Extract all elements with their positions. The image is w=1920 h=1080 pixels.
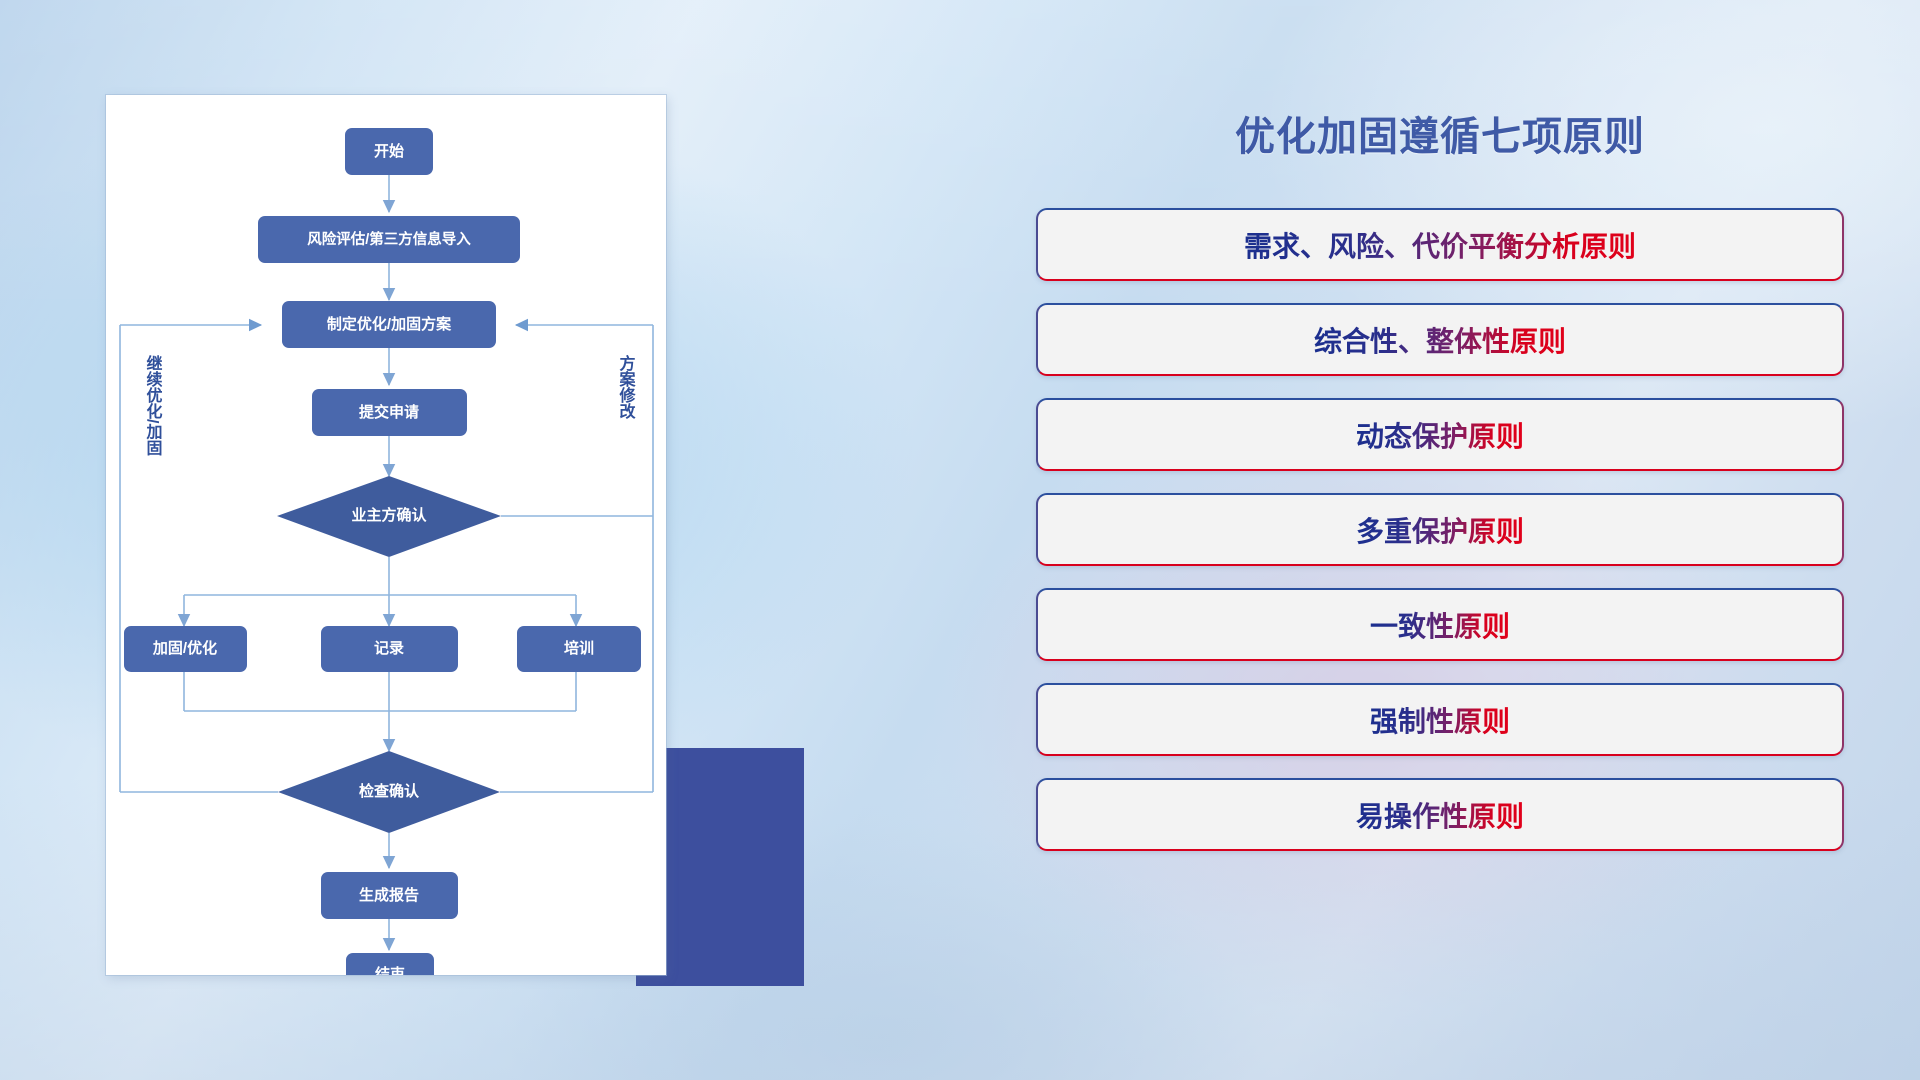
principle-card-label: 动态保护原则	[1356, 415, 1524, 455]
flow-node-report[interactable]: 生成报告	[321, 872, 458, 919]
flow-node-end[interactable]: 结束	[346, 953, 434, 975]
flow-node-plan[interactable]: 制定优化/加固方案	[282, 301, 496, 348]
principle-card-label: 多重保护原则	[1356, 510, 1524, 550]
principle-card[interactable]: 动态保护原则	[1036, 398, 1844, 471]
principle-card-list: 需求、风险、代价平衡分析原则 综合性、整体性原则 动态保护原则 多重保护原则 一…	[1020, 208, 1850, 851]
flow-node-start[interactable]: 开始	[345, 128, 433, 175]
principle-card-label: 一致性原则	[1370, 605, 1510, 645]
principle-card-label: 综合性、整体性原则	[1314, 320, 1566, 360]
principles-panel: 优化加固遵循七项原则 需求、风险、代价平衡分析原则 综合性、整体性原则 动态保护…	[1020, 80, 1850, 1030]
flow-node-submit[interactable]: 提交申请	[312, 389, 467, 436]
principle-card[interactable]: 易操作性原则	[1036, 778, 1844, 851]
flow-node-report-label: 生成报告	[359, 886, 419, 904]
flowchart-diagram: 开始 风险评估/第三方信息导入 制定优化/加固方案 提交申请 业主方确认 加固/…	[106, 95, 666, 975]
flow-left-loop-label: 继续优化/加固	[144, 354, 164, 456]
panel-title: 优化加固遵循七项原则	[1030, 104, 1850, 162]
principle-card-label: 需求、风险、代价平衡分析原则	[1244, 225, 1636, 265]
flow-node-start-label: 开始	[374, 142, 404, 160]
flow-node-check-confirm[interactable]: 检查确认	[278, 751, 500, 833]
principle-card[interactable]: 多重保护原则	[1036, 493, 1844, 566]
flow-connectors	[120, 175, 653, 950]
flow-node-record[interactable]: 记录	[321, 626, 458, 672]
flow-node-training[interactable]: 培训	[517, 626, 641, 672]
flow-node-submit-label: 提交申请	[359, 403, 419, 421]
principle-card[interactable]: 综合性、整体性原则	[1036, 303, 1844, 376]
flow-node-plan-label: 制定优化/加固方案	[327, 315, 452, 333]
flow-node-training-label: 培训	[564, 639, 594, 657]
flow-node-reinforce-label: 加固/优化	[152, 639, 217, 657]
flow-node-owner-confirm[interactable]: 业主方确认	[277, 476, 501, 557]
flow-node-owner-confirm-label: 业主方确认	[351, 506, 427, 524]
principle-card-label: 强制性原则	[1370, 700, 1510, 740]
principle-card[interactable]: 需求、风险、代价平衡分析原则	[1036, 208, 1844, 281]
flow-node-risk-assessment[interactable]: 风险评估/第三方信息导入	[258, 216, 520, 263]
principle-card[interactable]: 一致性原则	[1036, 588, 1844, 661]
flow-node-end-label: 结束	[375, 965, 406, 975]
principle-card-label: 易操作性原则	[1356, 795, 1524, 835]
flow-node-reinforce[interactable]: 加固/优化	[124, 626, 247, 672]
flow-node-record-label: 记录	[374, 640, 404, 657]
flow-right-loop-label: 方案修改	[617, 354, 637, 420]
principle-card[interactable]: 强制性原则	[1036, 683, 1844, 756]
flow-node-risk-assessment-label: 风险评估/第三方信息导入	[307, 230, 471, 248]
flowchart-card: 开始 风险评估/第三方信息导入 制定优化/加固方案 提交申请 业主方确认 加固/…	[106, 95, 666, 975]
flow-node-check-confirm-label: 检查确认	[359, 782, 420, 800]
